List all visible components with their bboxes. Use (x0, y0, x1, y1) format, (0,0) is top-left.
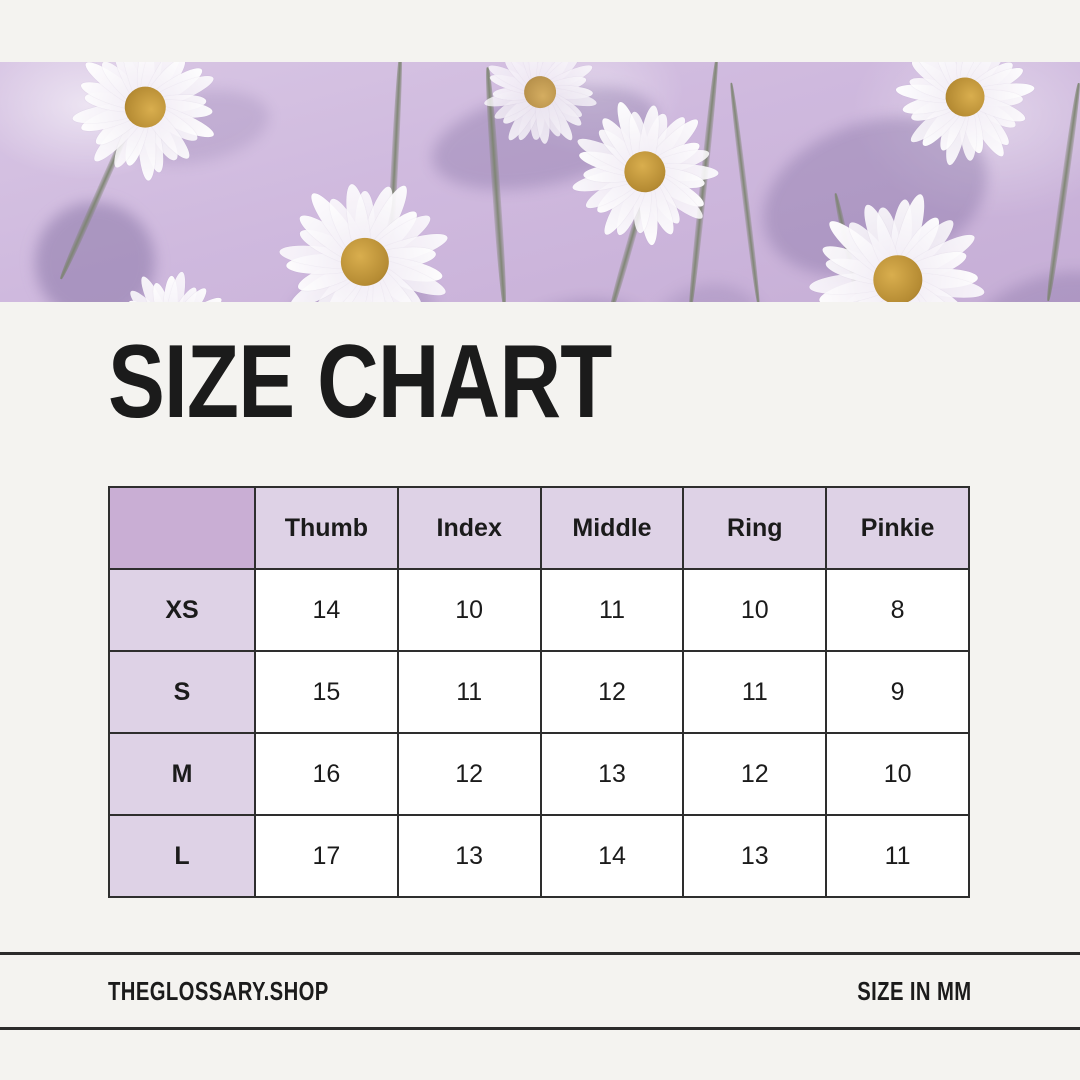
table-cell: 12 (541, 651, 684, 733)
table-cell: 17 (255, 815, 398, 897)
table-cell: 9 (826, 651, 969, 733)
footer-brand: THEGLOSSARY.SHOP (108, 976, 329, 1007)
table-corner-cell (109, 487, 255, 569)
table-row: S151112119 (109, 651, 969, 733)
table-header-row: ThumbIndexMiddleRingPinkie (109, 487, 969, 569)
table-cell: 13 (398, 815, 541, 897)
table-cell: 12 (398, 733, 541, 815)
table-cell: 10 (398, 569, 541, 651)
table-column-header-index: Index (398, 487, 541, 569)
table-cell: 13 (541, 733, 684, 815)
table-cell: 11 (398, 651, 541, 733)
footer-bar: THEGLOSSARY.SHOP SIZE IN MM (0, 952, 1080, 1030)
table-row-header-m: M (109, 733, 255, 815)
table-cell: 13 (683, 815, 826, 897)
daisy-flower (260, 157, 470, 302)
size-chart-table: ThumbIndexMiddleRingPinkie XS141011108S1… (108, 486, 970, 898)
table-cell: 15 (255, 651, 398, 733)
table-column-header-ring: Ring (683, 487, 826, 569)
table-header: ThumbIndexMiddleRingPinkie (109, 487, 969, 569)
table-row: L1713141311 (109, 815, 969, 897)
table-row-header-l: L (109, 815, 255, 897)
table-cell: 11 (683, 651, 826, 733)
table-column-header-thumb: Thumb (255, 487, 398, 569)
table-row: XS141011108 (109, 569, 969, 651)
table-cell: 12 (683, 733, 826, 815)
hero-banner (0, 62, 1080, 302)
daisy-flower (464, 62, 616, 168)
table-cell: 11 (541, 569, 684, 651)
table-cell: 10 (683, 569, 826, 651)
table-cell: 16 (255, 733, 398, 815)
table-cell: 14 (541, 815, 684, 897)
table-cell: 8 (826, 569, 969, 651)
footer-unit-note: SIZE IN MM (858, 976, 972, 1007)
table-column-header-middle: Middle (541, 487, 684, 569)
table-cell: 10 (826, 733, 969, 815)
table-body: XS141011108S151112119M1612131210L1713141… (109, 569, 969, 897)
table-column-header-pinkie: Pinkie (826, 487, 969, 569)
table-row-header-xs: XS (109, 569, 255, 651)
page-title-wrapper: SIZE CHART (108, 330, 722, 434)
page-title: SIZE CHART (108, 330, 611, 434)
table-row-header-s: S (109, 651, 255, 733)
table-cell: 14 (255, 569, 398, 651)
table-cell: 11 (826, 815, 969, 897)
table-row: M1612131210 (109, 733, 969, 815)
